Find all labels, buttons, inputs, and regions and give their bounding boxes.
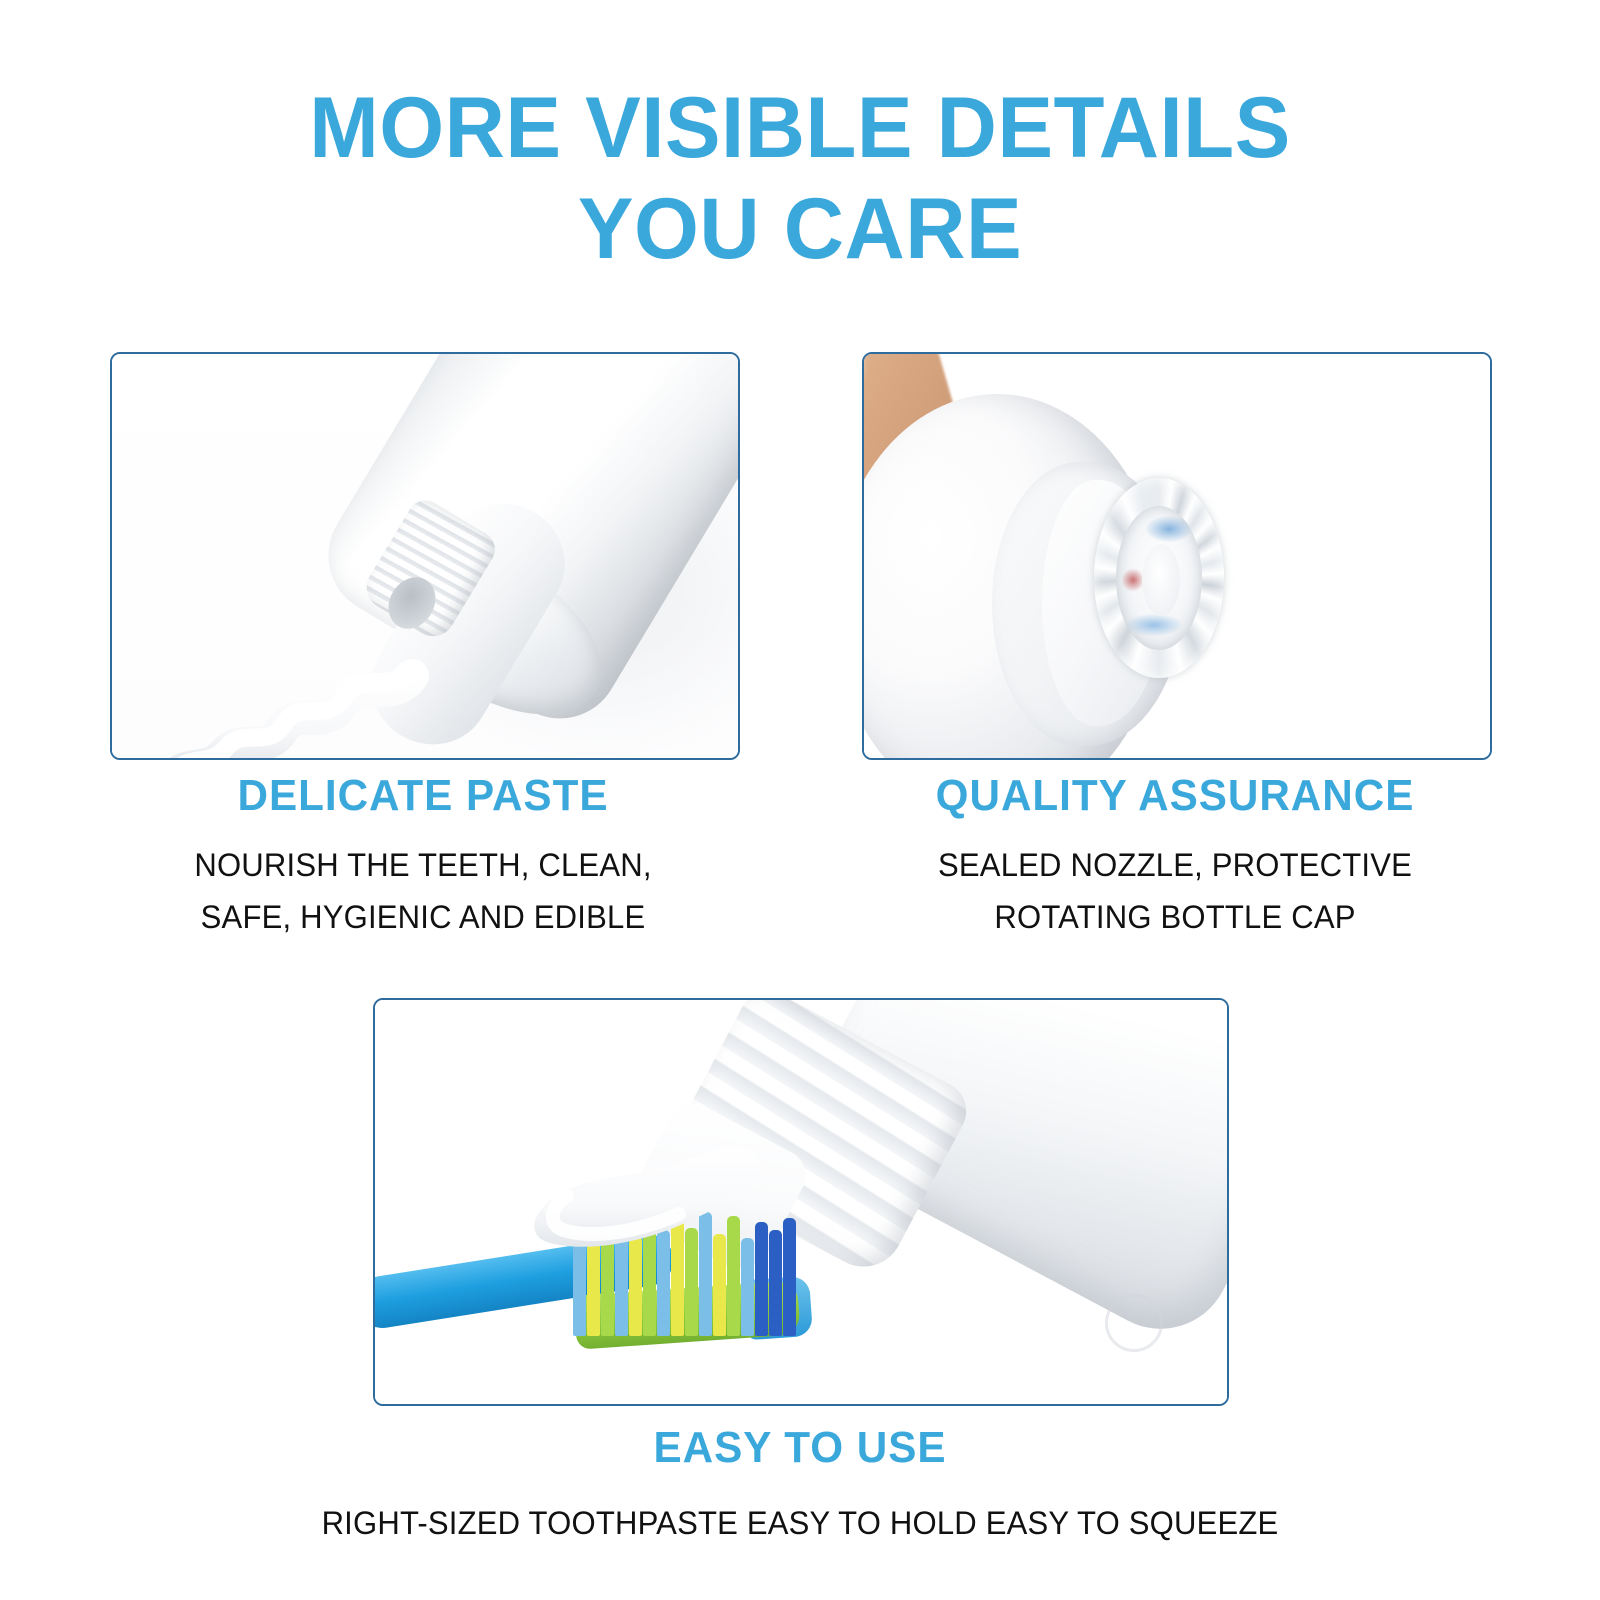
paste-squiggle [112,554,492,758]
promo-page: MORE VISIBLE DETAILS YOU CARE [0,0,1600,1600]
feature-card-delicate-paste [110,352,740,760]
photo-toothbrush-with-paste [375,1000,1227,1404]
card-body-line-1: RIGHT-SIZED TOOTHPASTE EASY TO HOLD EASY… [257,1498,1343,1550]
card-body: SEALED NOZZLE, PROTECTIVE ROTATING BOTTL… [871,840,1478,944]
nozzle-inner [1116,506,1202,650]
nozzle-core [1142,544,1180,616]
photo-bottle-cap-nozzle [864,354,1490,758]
card-body-line-2: SAFE, HYGIENIC AND EDIBLE [119,892,726,944]
card-body-line-1: NOURISH THE TEETH, CLEAN, [119,840,726,892]
card-title: DELICATE PASTE [123,772,724,820]
photo-toothpaste-tube [112,354,738,758]
nozzle-reflection-red [1122,568,1144,592]
caption-easy-to-use: EASY TO USE RIGHT-SIZED TOOTHPASTE EASY … [240,1424,1360,1550]
page-title: MORE VISIBLE DETAILS YOU CARE [24,78,1576,281]
page-title-line-1: MORE VISIBLE DETAILS [24,78,1576,179]
card-body-line-2: ROTATING BOTTLE CAP [871,892,1478,944]
card-title: EASY TO USE [262,1424,1337,1472]
caption-delicate-paste: DELICATE PASTE NOURISH THE TEETH, CLEAN,… [110,772,736,944]
card-body: NOURISH THE TEETH, CLEAN, SAFE, HYGIENIC… [119,840,726,944]
paste-blob [455,1130,795,1260]
card-title: QUALITY ASSURANCE [875,772,1476,820]
nozzle-reflection-blue-2 [1126,614,1182,636]
page-title-line-2: YOU CARE [24,179,1576,280]
sealed-nozzle-ring [1094,478,1224,678]
watermark-circle [1105,1294,1163,1352]
card-body: RIGHT-SIZED TOOTHPASTE EASY TO HOLD EASY… [257,1498,1343,1550]
nozzle-reflection-blue [1146,516,1192,542]
feature-card-quality-assurance [862,352,1492,760]
caption-quality-assurance: QUALITY ASSURANCE SEALED NOZZLE, PROTECT… [862,772,1488,944]
card-body-line-1: SEALED NOZZLE, PROTECTIVE [871,840,1478,892]
feature-card-easy-to-use [373,998,1229,1406]
